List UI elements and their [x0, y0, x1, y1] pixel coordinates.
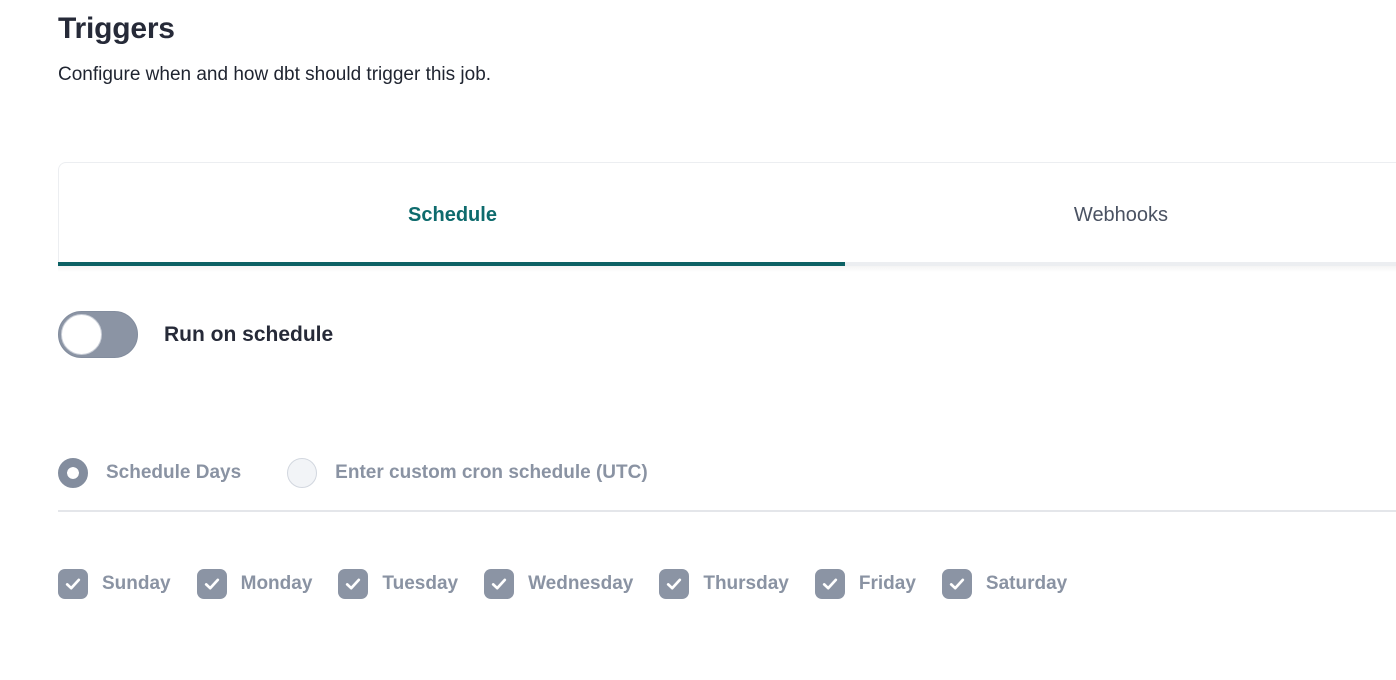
schedule-days-group: Sunday Monday Tuesday Wednesday Thursday [58, 569, 1067, 599]
checkmark-icon [197, 569, 227, 599]
checkmark-icon [58, 569, 88, 599]
day-label: Tuesday [382, 573, 458, 595]
tab-webhooks[interactable]: Webhooks [846, 202, 1396, 228]
radio-custom-cron[interactable]: Enter custom cron schedule (UTC) [287, 458, 648, 488]
page-subtitle: Configure when and how dbt should trigge… [58, 48, 1358, 88]
checkmark-icon [659, 569, 689, 599]
day-checkbox-monday[interactable]: Monday [197, 569, 313, 599]
run-on-schedule-row: Run on schedule [58, 311, 333, 358]
day-checkbox-tuesday[interactable]: Tuesday [338, 569, 458, 599]
day-checkbox-wednesday[interactable]: Wednesday [484, 569, 633, 599]
checkmark-icon [815, 569, 845, 599]
page-title: Triggers [58, 10, 1358, 48]
checkmark-icon [942, 569, 972, 599]
day-checkbox-friday[interactable]: Friday [815, 569, 916, 599]
toggle-knob [61, 314, 102, 355]
header: Triggers Configure when and how dbt shou… [58, 10, 1358, 88]
radio-unselected-icon [287, 458, 317, 488]
day-checkbox-sunday[interactable]: Sunday [58, 569, 171, 599]
day-label: Sunday [102, 573, 171, 595]
triggers-panel: Triggers Configure when and how dbt shou… [0, 0, 1396, 680]
radio-schedule-days[interactable]: Schedule Days [58, 458, 241, 488]
day-checkbox-saturday[interactable]: Saturday [942, 569, 1067, 599]
schedule-mode-radio-group: Schedule Days Enter custom cron schedule… [58, 458, 648, 488]
checkmark-icon [484, 569, 514, 599]
radio-schedule-days-label: Schedule Days [106, 462, 241, 484]
tab-active-underline [58, 262, 845, 266]
day-label: Friday [859, 573, 916, 595]
tab-webhooks-label: Webhooks [1074, 204, 1168, 226]
day-checkbox-thursday[interactable]: Thursday [659, 569, 789, 599]
day-label: Monday [241, 573, 313, 595]
tabs-bottom-shadow [58, 266, 1396, 272]
section-divider [58, 510, 1396, 512]
tabs-card: Schedule Webhooks [58, 162, 1396, 266]
run-on-schedule-toggle[interactable] [58, 311, 138, 358]
day-label: Wednesday [528, 573, 633, 595]
radio-custom-cron-label: Enter custom cron schedule (UTC) [335, 462, 648, 484]
tab-list: Schedule Webhooks [59, 163, 1396, 266]
checkmark-icon [338, 569, 368, 599]
run-on-schedule-label: Run on schedule [164, 323, 333, 347]
radio-selected-icon [58, 458, 88, 488]
tab-schedule[interactable]: Schedule [59, 202, 846, 228]
tab-schedule-label: Schedule [408, 204, 497, 226]
day-label: Thursday [703, 573, 789, 595]
day-label: Saturday [986, 573, 1067, 595]
